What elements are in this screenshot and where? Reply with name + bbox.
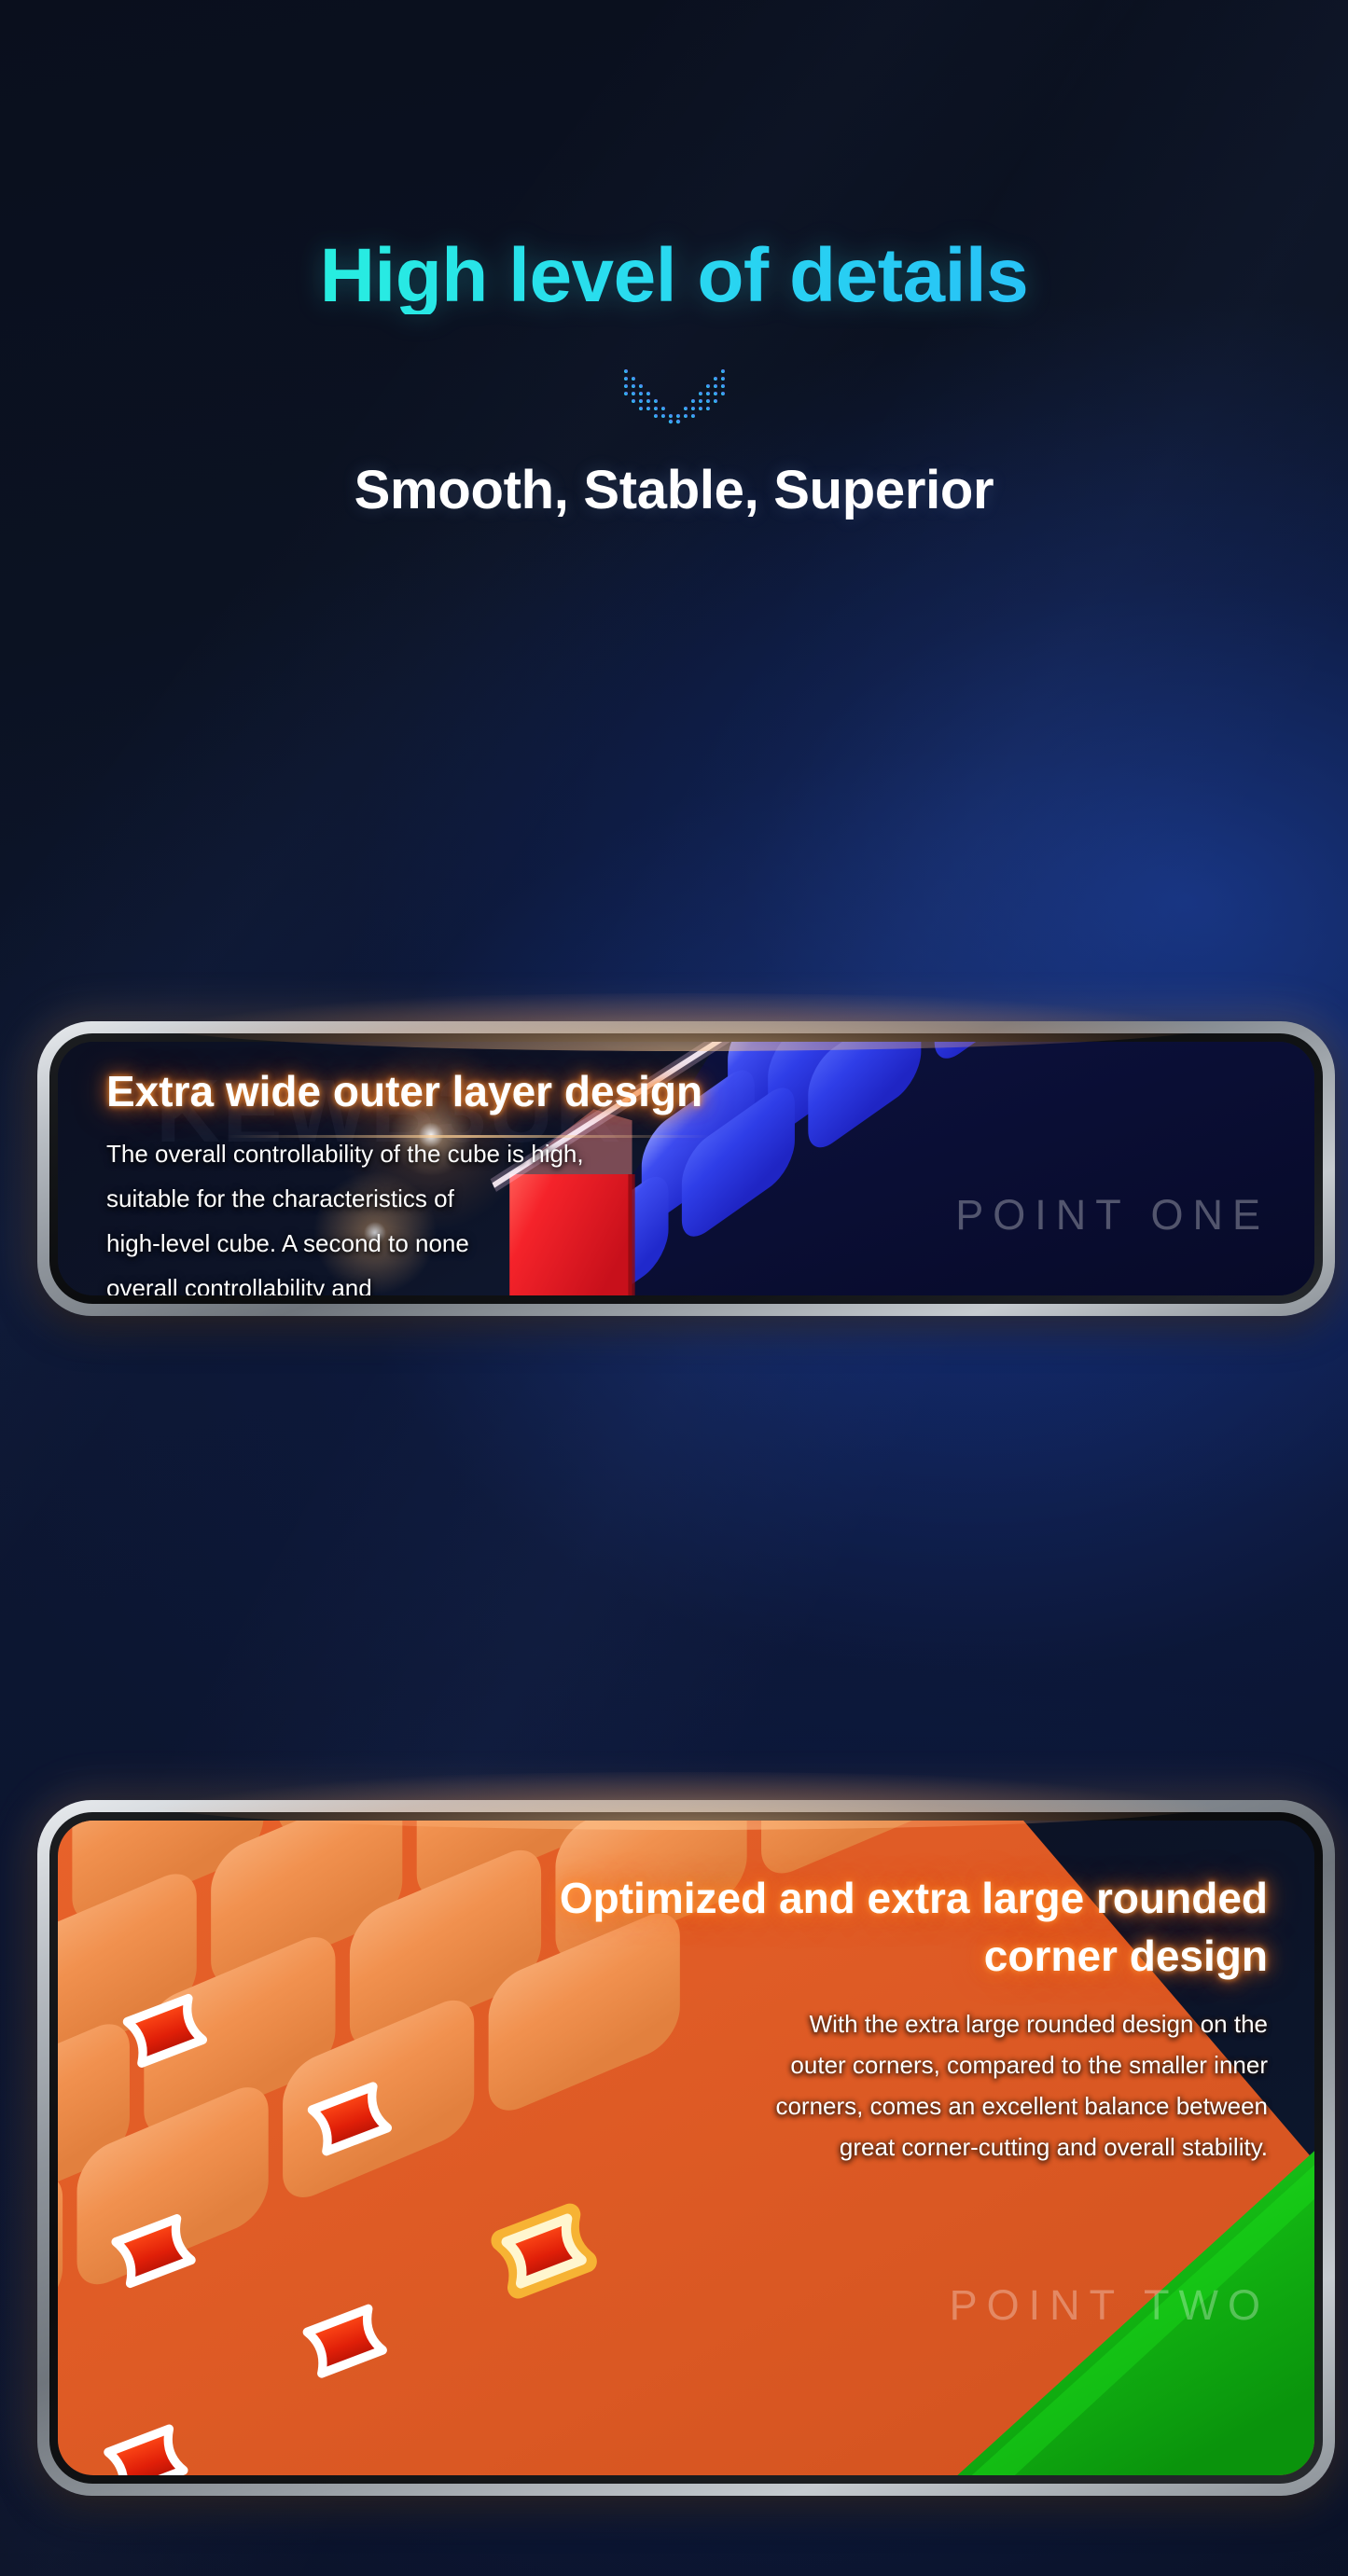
- page-title: High level of details: [0, 0, 1348, 314]
- product-detail-page: High level of details: [0, 0, 1348, 2576]
- card-bezel-inner-ring: POINT TWO Optimized and extra large roun…: [49, 1812, 1323, 2484]
- card-two-body-line: corners, comes an excellent balance betw…: [775, 2085, 1268, 2126]
- feature-card-point-one[interactable]: KEWB3UK: [37, 1021, 1335, 1316]
- card-one-body-line: overall controllability and: [106, 1266, 584, 1295]
- card-one-body-line: The overall controllability of the cube …: [106, 1131, 584, 1176]
- card-two-title-line: Optimized and extra large rounded: [560, 1869, 1268, 1927]
- point-label-two: POINT TWO: [950, 2281, 1270, 2330]
- page-subtitle: Smooth, Stable, Superior: [0, 425, 1348, 521]
- hero-section: High level of details: [0, 0, 1348, 521]
- card-two-body-line: great corner-cutting and overall stabili…: [775, 2126, 1268, 2167]
- card-two-body-line: outer corners, compared to the smaller i…: [775, 2044, 1268, 2085]
- card-two-body: With the extra large rounded design on t…: [775, 2003, 1268, 2167]
- card-one-title: Extra wide outer layer design: [106, 1066, 702, 1116]
- card-two-title: Optimized and extra large rounded corner…: [560, 1869, 1268, 1985]
- card-one-body-line: suitable for the characteristics of: [106, 1176, 584, 1221]
- card-two-title-line: corner design: [560, 1927, 1268, 1985]
- card-one-body-line: high-level cube. A second to none: [106, 1221, 584, 1266]
- card-screen: POINT TWO Optimized and extra large roun…: [58, 1821, 1314, 2475]
- dotted-chevron-down-icon: [618, 364, 730, 425]
- card-one-body: The overall controllability of the cube …: [106, 1131, 584, 1295]
- card-screen: KEWB3UK: [58, 1042, 1314, 1295]
- point-label-one: POINT ONE: [955, 1191, 1270, 1240]
- card-bezel-inner-ring: KEWB3UK: [49, 1033, 1323, 1304]
- card-two-body-line: With the extra large rounded design on t…: [775, 2003, 1268, 2044]
- feature-card-point-two[interactable]: POINT TWO Optimized and extra large roun…: [37, 1800, 1335, 2496]
